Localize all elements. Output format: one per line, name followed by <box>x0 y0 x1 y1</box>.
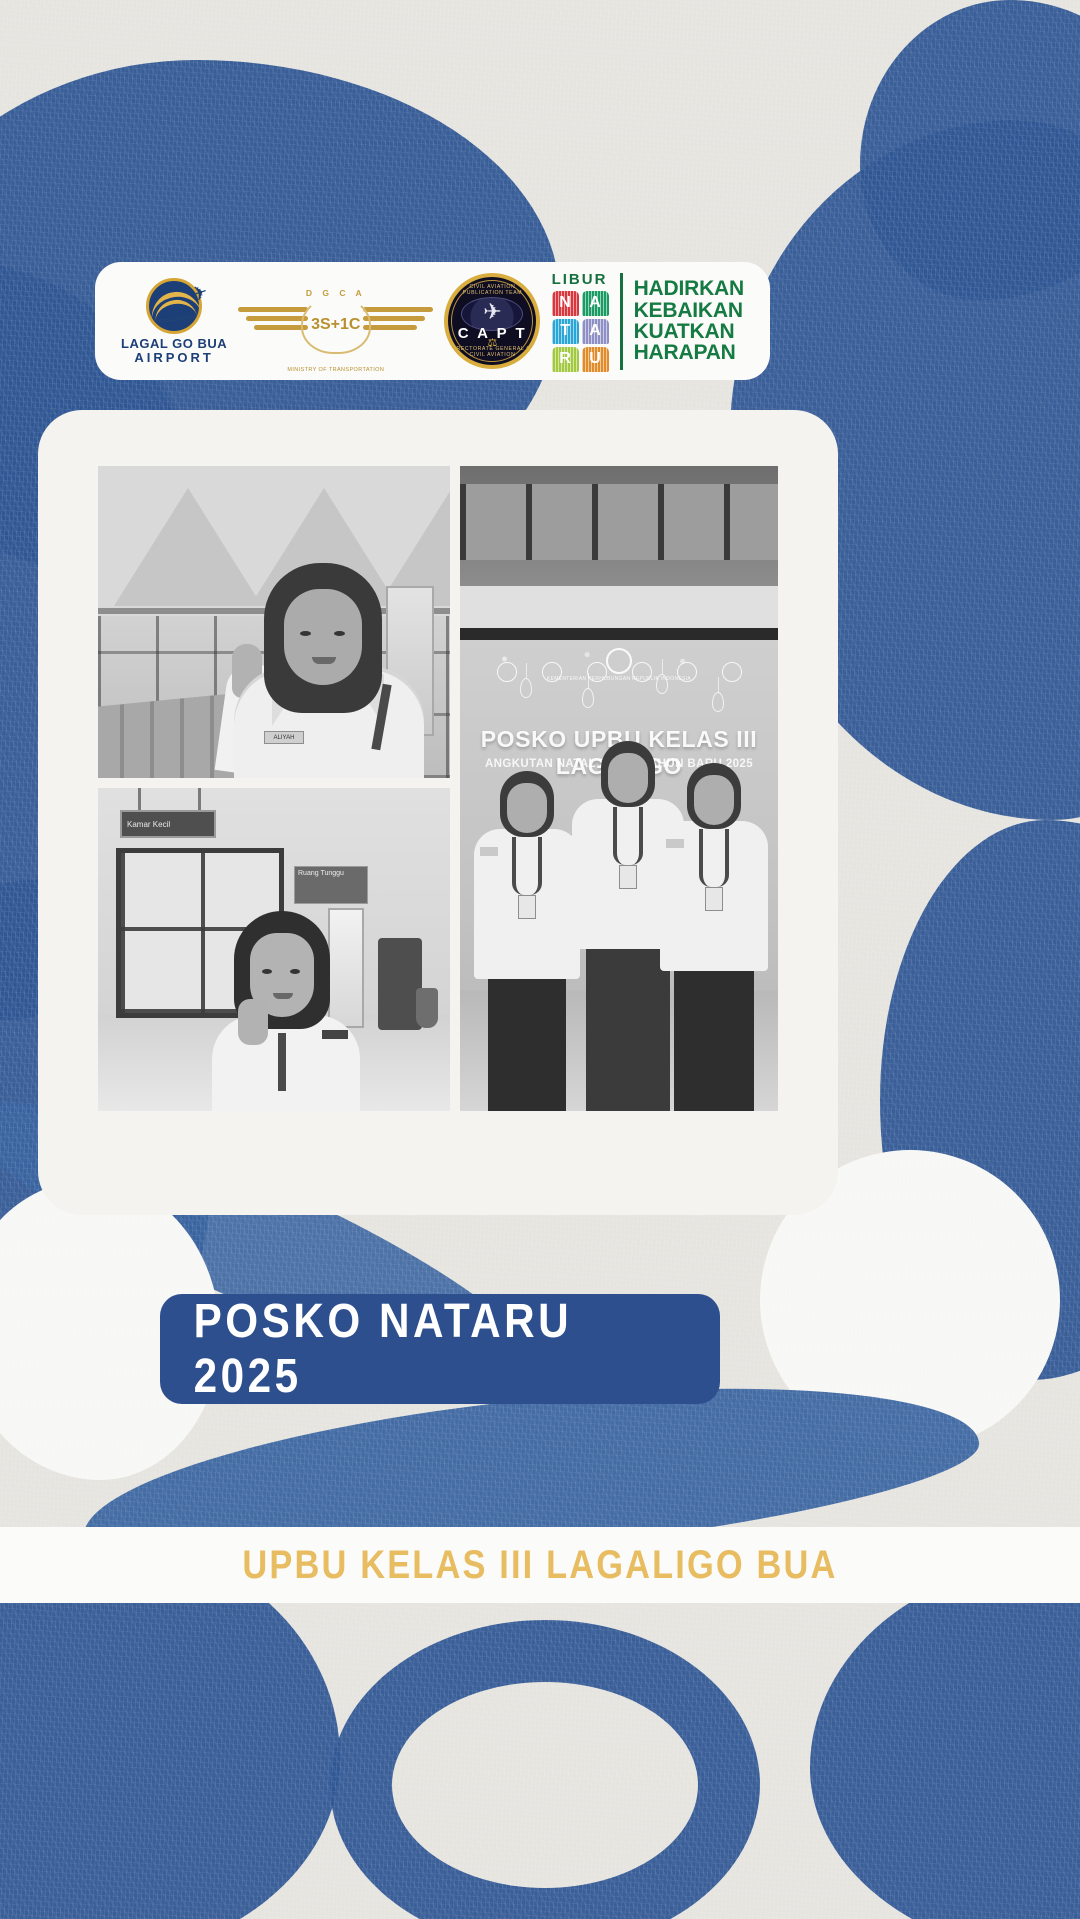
airport-logo-text: LAGAL GO BUA AIRPORT <box>121 337 227 364</box>
partner-logo-icon-6 <box>722 662 742 682</box>
nataru-tile-a1: A <box>582 291 609 316</box>
poster-title: POSKO NATARU 2025 <box>194 1294 687 1404</box>
name-badge: ALIYAH <box>264 731 304 744</box>
capt-arc-top-text: CIVIL AVIATION PUBLICATION TEAM <box>448 284 536 296</box>
capt-arc-bottom-text: DIRECTORATE GENERAL OF CIVIL AVIATION <box>448 346 536 358</box>
logo-lagaligo-bua-airport: ✈ LAGAL GO BUA AIRPORT <box>121 278 227 364</box>
slogan-line-3: KUATKAN <box>634 321 744 342</box>
officer-left <box>474 771 580 1111</box>
airport-emblem-icon: ✈ <box>146 278 202 334</box>
laurel-wreath-icon: 3S+1C <box>301 296 371 354</box>
title-banner: POSKO NATARU 2025 <box>160 1294 720 1404</box>
brush-blob-bottom-right <box>810 1560 1080 1919</box>
officers-group <box>460 711 778 1111</box>
waiting-room-sign: Ruang Tunggu <box>294 866 368 904</box>
airport-name-line-1: LAGAL GO BUA <box>121 337 227 351</box>
nataru-slogan: HADIRKAN KEBAIKAN KUATKAN HARAPAN <box>634 278 744 364</box>
nataru-letter-grid: N A T A R U <box>552 291 609 372</box>
brush-blob-corner-right <box>860 0 1080 300</box>
nataru-tile-n: N <box>552 291 579 316</box>
dgca-ribbon-text: MINISTRY OF TRANSPORTATION <box>287 367 384 373</box>
officer-figure-2 <box>194 911 374 1111</box>
poster-root: ✈ LAGAL GO BUA AIRPORT D G C A 3S+1C MIN… <box>0 0 1080 1919</box>
logo-dgca-wings: D G C A 3S+1C MINISTRY OF TRANSPORTATION <box>238 273 433 369</box>
officer-right <box>660 763 768 1111</box>
photo-officer-hijab-terminal: ALIYAH <box>98 466 450 778</box>
restroom-sign: Kamar Kecil <box>120 810 216 838</box>
logo-libur-nataru: LIBUR N A T A R U HADIRKAN KEBAIKAN KUAT… <box>552 271 744 372</box>
footer-text: UPBU KELAS III LAGALIGO BUA <box>242 1543 837 1588</box>
slogan-line-2: KEBAIKAN <box>634 300 744 321</box>
nataru-tile-a2: A <box>582 319 609 344</box>
photo-collage: ALIYAH Kamar Kecil Ruang Tunggu <box>98 466 778 1111</box>
dgca-center-text: 3S+1C <box>311 316 360 334</box>
officer-figure: ALIYAH <box>218 563 438 778</box>
nataru-tile-t: T <box>552 319 579 344</box>
slogan-line-4: HARAPAN <box>634 342 744 363</box>
partner-logo-icon-4 <box>632 662 652 682</box>
backdrop-partner-logos <box>484 662 754 682</box>
airport-name-line-2: AIRPORT <box>121 351 227 365</box>
photo-three-officers-backdrop: KEMENTERIAN PERHUBUNGAN REPUBLIK INDONES… <box>460 466 778 1111</box>
partner-logo-icon-5 <box>677 662 697 682</box>
partner-logo-icon-1 <box>497 662 517 682</box>
nataru-divider <box>620 273 623 370</box>
nataru-libur-text: LIBUR <box>552 271 609 288</box>
footer-band: UPBU KELAS III LAGALIGO BUA <box>0 1527 1080 1603</box>
logo-capt-seal: CIVIL AVIATION PUBLICATION TEAM ✈ C A P … <box>444 273 540 369</box>
photo-officer-terminal-lobby: Kamar Kecil Ruang Tunggu <box>98 788 450 1111</box>
brush-ring-bottom <box>330 1620 760 1919</box>
slogan-line-1: HADIRKAN <box>634 278 744 299</box>
airplane-front-icon: ✈ <box>483 301 501 323</box>
partner-logo-icon-2 <box>542 662 562 682</box>
partner-logo-icon-3 <box>587 662 607 682</box>
nataru-tile-u: U <box>582 347 609 372</box>
logo-bar: ✈ LAGAL GO BUA AIRPORT D G C A 3S+1C MIN… <box>95 262 770 380</box>
nataru-mark: LIBUR N A T A R U <box>552 271 609 372</box>
nataru-tile-r: R <box>552 347 579 372</box>
trash-bin <box>416 988 438 1028</box>
dgca-center-emblem: D G C A 3S+1C <box>293 279 379 363</box>
